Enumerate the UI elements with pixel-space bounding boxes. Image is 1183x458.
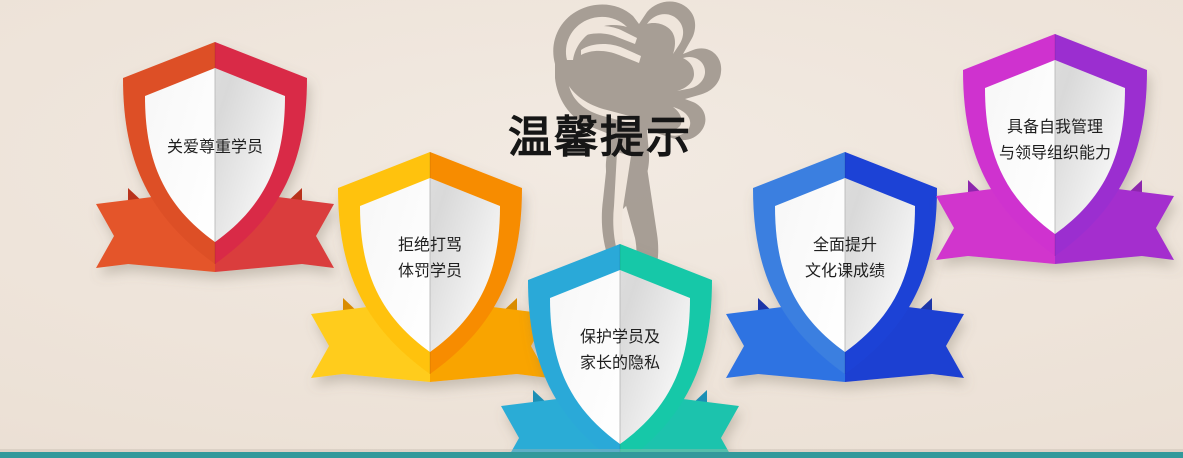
poster-canvas: 温馨提示	[0, 0, 1183, 458]
badge-self-management-leadership[interactable]: 具备自我管理 与领导组织能力	[940, 30, 1170, 290]
badge-academic-improvement[interactable]: 全面提升 文化课成绩	[730, 148, 960, 408]
badge-care-respect[interactable]: 关爱尊重学员	[100, 38, 330, 298]
bottom-rule	[0, 452, 1183, 458]
badge-privacy-protection[interactable]: 保护学员及 家长的隐私	[505, 240, 735, 458]
